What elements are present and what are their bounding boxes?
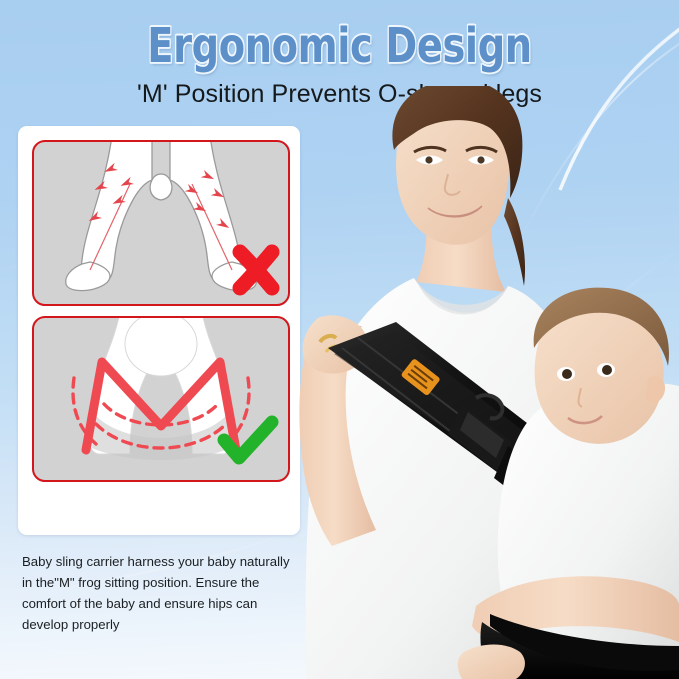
product-marketing-image: Ergonomic Design 'M' Position Prevents O… (0, 0, 679, 679)
panel-correct-posture (32, 316, 290, 482)
product-photo (276, 86, 679, 679)
card-caption: Baby sling carrier harness your baby nat… (22, 551, 290, 635)
panel-incorrect-posture (32, 140, 290, 306)
info-card (18, 126, 300, 535)
page-title: Ergonomic Design (68, 18, 611, 74)
